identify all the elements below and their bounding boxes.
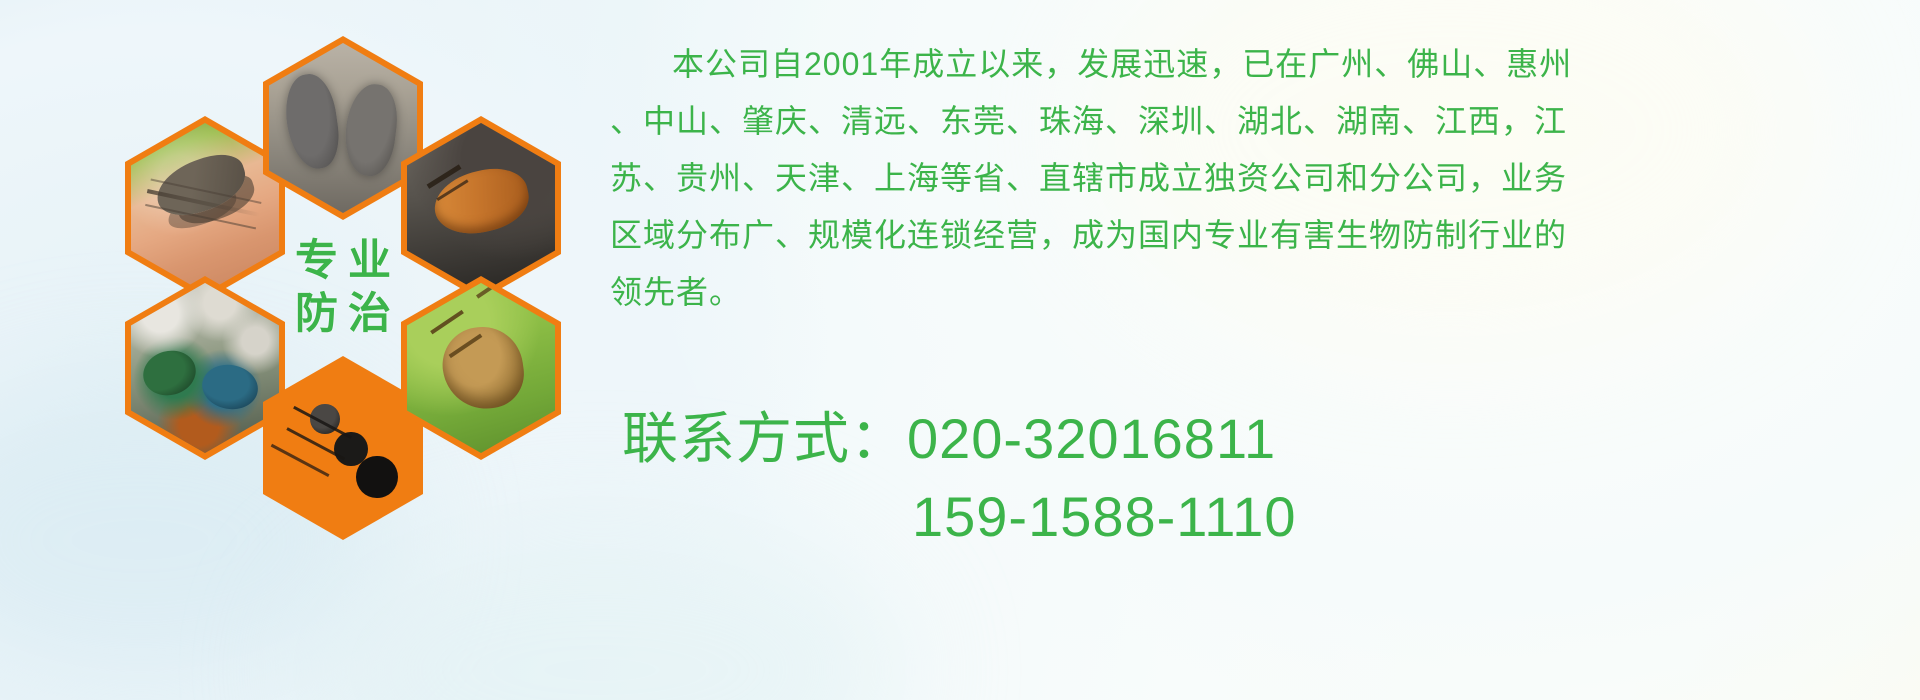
hex-photo-cockroach-inner (407, 123, 555, 293)
ant-photo (269, 363, 417, 533)
company-intro-paragraph: 本公司自2001年成立以来，发展迅速，已在广州、佛山、惠州 、中山、肇庆、清远、… (610, 36, 1890, 321)
hex-photo-flies-inner (131, 283, 279, 453)
stink-bug-photo (407, 283, 555, 453)
contact-block: 联系方式：020-32016811 159-1588-1110 (622, 400, 1822, 556)
hex-photo-stink-bug[interactable] (401, 276, 561, 460)
hex-photo-ant[interactable] (263, 356, 423, 540)
intro-line-4: 区域分布广、规模化连锁经营，成为国内专业有害生物防制行业的 (610, 207, 1890, 264)
slogan-line-1: 专业 (285, 239, 401, 284)
rats-photo (269, 43, 417, 213)
flies-photo (131, 283, 279, 453)
contact-phone-secondary[interactable]: 159-1588-1110 (622, 478, 1822, 556)
contact-phone-primary[interactable]: 联系方式：020-32016811 (622, 400, 1822, 478)
slogan-text-group: 专业 防治 (263, 196, 423, 380)
hex-photo-ant-inner (269, 363, 417, 533)
intro-line-2: 、中山、肇庆、清远、东莞、珠海、深圳、湖北、湖南、江西，江 (610, 93, 1890, 150)
cockroach-photo (407, 123, 555, 293)
mosquito-photo (131, 123, 279, 293)
hex-photo-cockroach[interactable] (401, 116, 561, 300)
hex-photo-rats-inner (269, 43, 417, 213)
hex-center-slogan: 专业 防治 (263, 196, 423, 380)
hex-photo-mosquito-inner (131, 123, 279, 293)
hex-photo-stink-bug-inner (407, 283, 555, 453)
slogan-line-2: 防治 (285, 292, 401, 337)
hex-photo-rats[interactable] (263, 36, 423, 220)
hexagon-photo-collage: 专业 防治 (95, 8, 585, 568)
hex-photo-mosquito[interactable] (125, 116, 285, 300)
intro-line-1: 本公司自2001年成立以来，发展迅速，已在广州、佛山、惠州 (610, 36, 1890, 93)
intro-line-5: 领先者。 (610, 264, 1890, 321)
hex-photo-flies[interactable] (125, 276, 285, 460)
promo-banner: 专业 防治 本公司自2001年成立以来，发展迅速，已在广州、佛山、惠州 、中山、… (0, 0, 1920, 700)
intro-line-3: 苏、贵州、天津、上海等省、直辖市成立独资公司和分公司，业务 (610, 150, 1890, 207)
